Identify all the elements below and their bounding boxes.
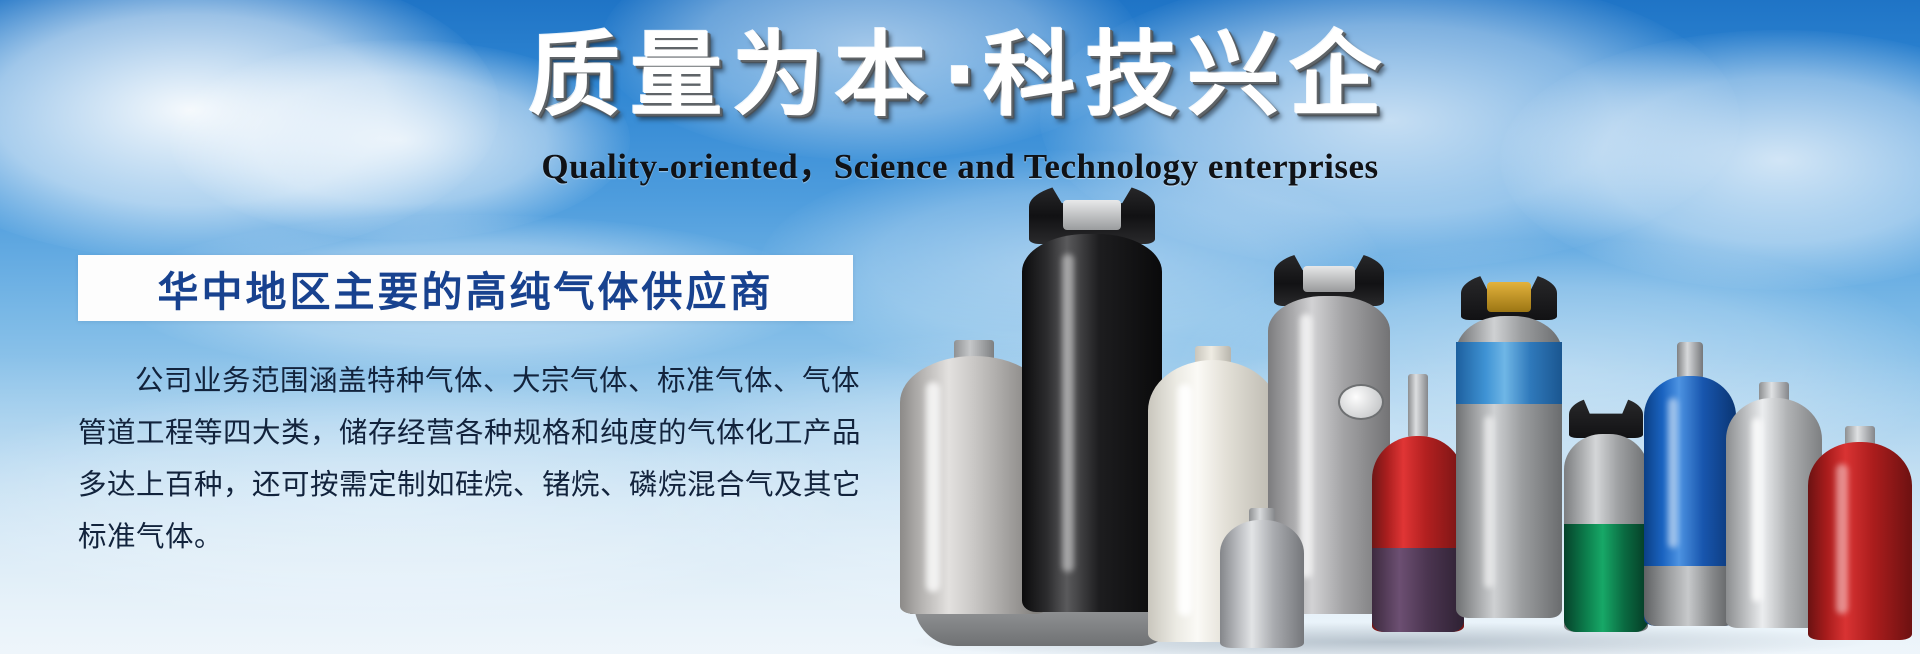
cylinder-red-large	[1808, 442, 1912, 640]
cylinder-red-small	[1372, 436, 1464, 632]
gas-cylinders-image	[900, 134, 1920, 654]
cylinder-blue-bright	[1644, 376, 1736, 626]
cylinder-blue-steel	[1456, 316, 1562, 618]
cylinder-black-tall	[1022, 234, 1162, 612]
headline-separator-dot: ·	[937, 22, 984, 129]
tagline-box: 华中地区主要的高纯气体供应商	[78, 255, 853, 321]
headline-part-right: 科技兴企	[983, 22, 1391, 129]
description-paragraph: 公司业务范围涵盖特种气体、大宗气体、标准气体、气体管道工程等四大类，储存经营各种…	[78, 355, 868, 563]
promo-banner: 质量为本·科技兴企 Quality-oriented，Science and T…	[0, 0, 1920, 654]
cylinder-green-small	[1564, 434, 1648, 632]
headline-part-left: 质量为本	[529, 22, 937, 129]
banner-headline: 质量为本·科技兴企	[400, 22, 1520, 131]
banner-description: 公司业务范围涵盖特种气体、大宗气体、标准气体、气体管道工程等四大类，储存经营各种…	[78, 355, 868, 563]
tagline-text: 华中地区主要的高纯气体供应商	[158, 258, 774, 318]
cylinder-aluminum-small	[1220, 520, 1304, 648]
